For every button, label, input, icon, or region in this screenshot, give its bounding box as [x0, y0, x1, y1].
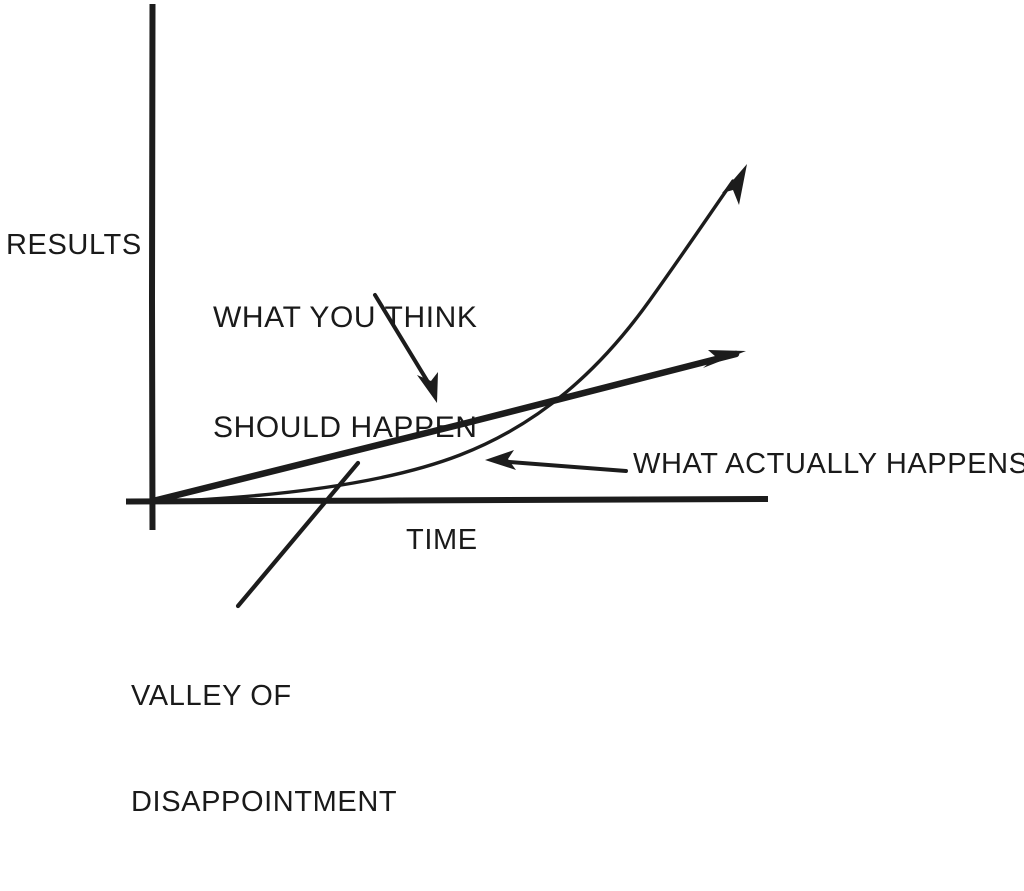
valley-annotation-label: VALLEY OF DISAPPOINTMENT [131, 608, 397, 891]
actual-label-arrowhead [485, 450, 516, 470]
expected-annotation-label: WHAT YOU THINK SHOULD HAPPEN [213, 227, 478, 520]
chart-svg [0, 0, 1024, 675]
x-axis-label: TIME [406, 523, 478, 558]
y-axis-label: RESULTS [6, 228, 142, 263]
valley-annotation-line-2: DISAPPOINTMENT [131, 785, 397, 820]
y-axis-line [152, 4, 153, 530]
actual-trend-arrowhead [722, 164, 747, 205]
expected-annotation-line-1: WHAT YOU THINK [213, 300, 478, 337]
actual-annotation-label: WHAT ACTUALLY HAPPENS [633, 447, 1024, 482]
expected-annotation-line-2: SHOULD HAPPEN [213, 410, 478, 447]
diagram-canvas: RESULTS TIME WHAT YOU THINK SHOULD HAPPE… [0, 0, 1024, 675]
valley-annotation-line-1: VALLEY OF [131, 679, 397, 714]
